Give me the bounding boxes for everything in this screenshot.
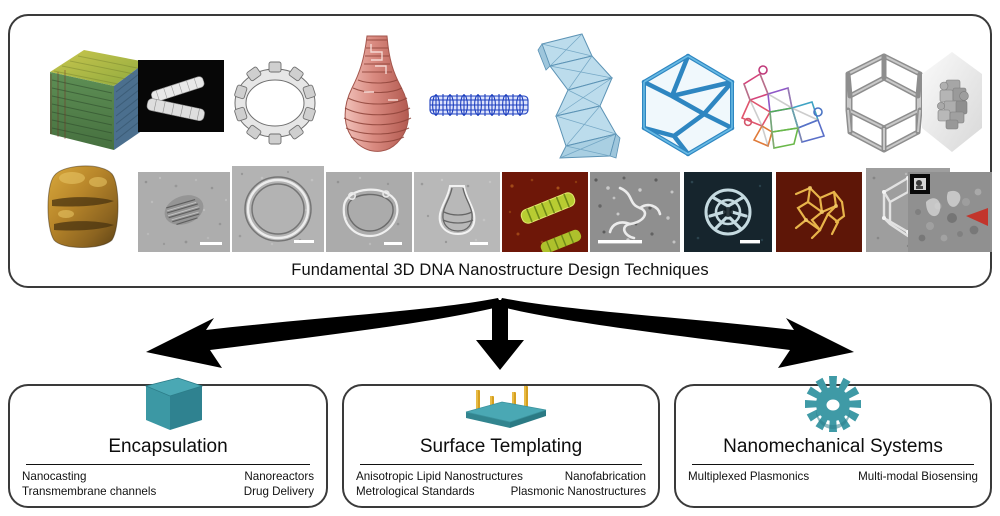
item-label: Drug Delivery — [244, 484, 314, 499]
top-panel-caption: Fundamental 3D DNA Nanostructure Design … — [10, 261, 990, 280]
dna-bundle-dark-field-model — [138, 60, 224, 132]
twisted-ribbon-model — [520, 26, 632, 162]
category-title-surface-templating: Surface Templating — [344, 436, 658, 458]
wireframe-icosahedron-model — [632, 48, 744, 160]
tem-noisy-filament-micrograph-2 — [590, 172, 680, 252]
list-item: Nanocasting Nanoreactors — [22, 469, 314, 484]
category-title-nanomechanical-systems: Nanomechanical Systems — [676, 436, 990, 458]
teal-cube-icon — [10, 372, 326, 434]
arrow-to-surface-templating — [476, 300, 524, 370]
tem-arrowhead-micrograph — [908, 172, 992, 252]
arrow-to-encapsulation — [146, 298, 502, 368]
category-rule-surface-templating — [360, 464, 642, 465]
list-item: Anisotropic Lipid Nanostructures Nanofab… — [356, 469, 646, 484]
dna-nanotechnology-overview-figure: Fundamental 3D DNA Nanostructure Design … — [0, 0, 1000, 516]
item-label: Multi-modal Biosensing — [858, 469, 978, 484]
fundamental-techniques-panel: Fundamental 3D DNA Nanostructure Design … — [8, 14, 992, 288]
item-label: Anisotropic Lipid Nanostructures — [356, 469, 523, 484]
category-panel-nanomechanical-systems: Nanomechanical Systems Multiplexed Plasm… — [674, 384, 992, 508]
category-items-surface-templating: Anisotropic Lipid Nanostructures Nanofab… — [356, 469, 646, 499]
category-rule-nanomechanical-systems — [692, 464, 974, 465]
category-title-encapsulation: Encapsulation — [10, 436, 326, 458]
category-items-encapsulation: Nanocasting Nanoreactors Transmembrane c… — [22, 469, 314, 499]
list-item: Transmembrane channels Drug Delivery — [22, 484, 314, 499]
tem-ring-open-micrograph — [326, 172, 412, 252]
coarse-grained-blob-model — [920, 46, 984, 162]
multicolor-wireframe-model — [732, 60, 842, 160]
item-label: Nanoreactors — [244, 469, 314, 484]
category-panel-surface-templating: Surface Templating Anisotropic Lipid Nan… — [342, 384, 660, 508]
arrow-to-nanomechanical-systems — [498, 298, 854, 368]
cryoem-mesh-micrograph — [684, 172, 772, 252]
gear-ring-model — [226, 56, 324, 148]
arrow-group — [110, 296, 890, 370]
list-item: Multiplexed Plasmonics Multi-modal Biose… — [688, 469, 978, 484]
item-label: Nanofabrication — [565, 469, 646, 484]
category-items-nanomechanical-systems: Multiplexed Plasmonics Multi-modal Biose… — [688, 469, 978, 484]
afm-gold-block-micrograph — [36, 156, 130, 252]
tem-vase-micrograph — [414, 172, 500, 252]
technique-gallery — [20, 22, 982, 252]
teal-slab-pillars-icon — [344, 372, 658, 434]
item-label: Nanocasting — [22, 469, 86, 484]
category-rule-encapsulation — [26, 464, 310, 465]
afm-red-network-micrograph — [776, 172, 862, 252]
item-label: Transmembrane channels — [22, 484, 156, 499]
dna-vase-model — [334, 30, 420, 158]
item-label: Metrological Standards — [356, 484, 475, 499]
item-label: Plasmonic Nanostructures — [511, 484, 646, 499]
teal-gear-icon — [676, 372, 990, 434]
category-panel-encapsulation: Encapsulation Nanocasting Nanoreactors T… — [8, 384, 328, 508]
tem-ring-micrograph — [232, 166, 324, 252]
list-item: Metrological Standards Plasmonic Nanostr… — [356, 484, 646, 499]
item-label: Multiplexed Plasmonics — [688, 469, 809, 484]
dna-nanotube-model — [424, 84, 534, 126]
tem-bundle-micrograph — [138, 172, 230, 252]
